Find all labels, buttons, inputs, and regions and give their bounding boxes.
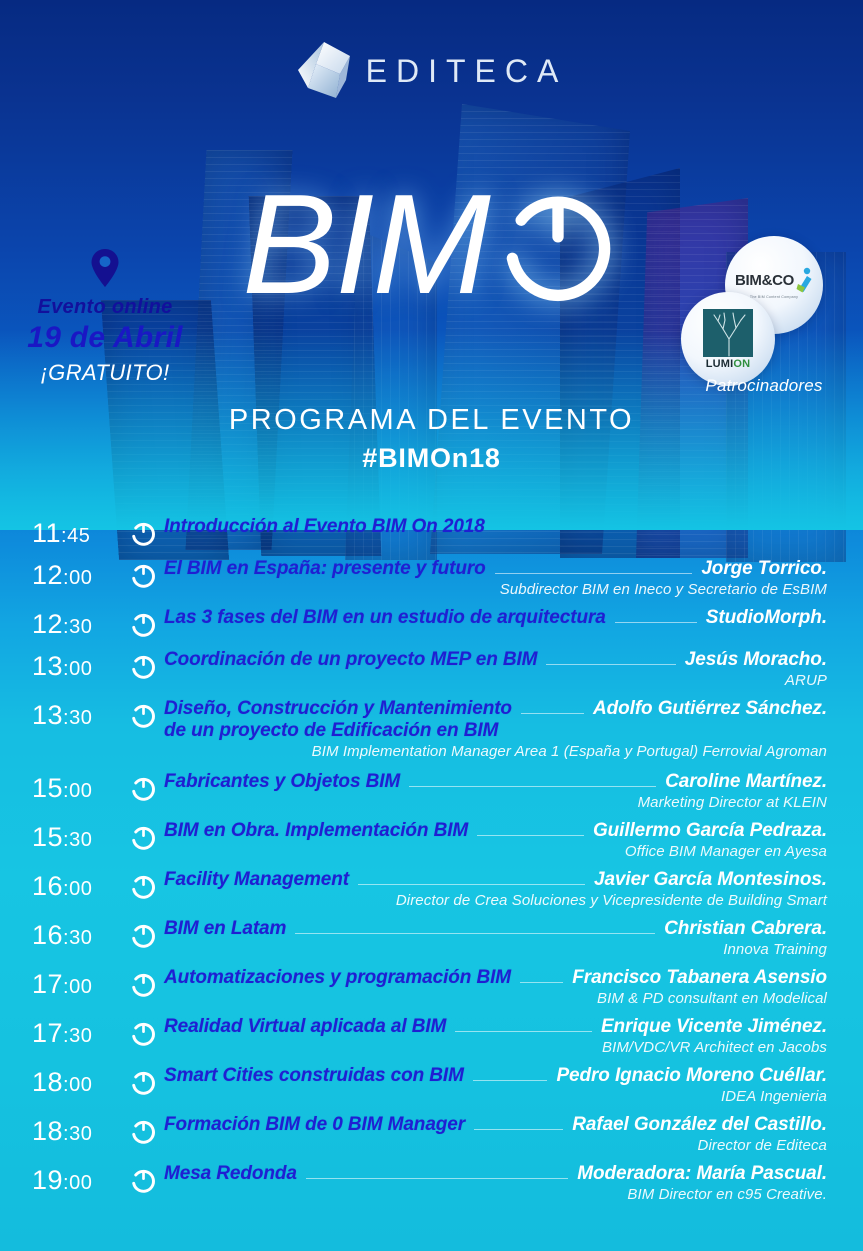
schedule-speaker-name: Christian Cabrera.: [664, 918, 827, 940]
schedule-speaker-role: IDEA Ingenieria: [164, 1088, 827, 1105]
schedule-time: 16:30: [32, 918, 130, 951]
schedule-row-main: El BIM en España: presente y futuroJorge…: [164, 558, 827, 580]
schedule-speaker-role: Office BIM Manager en Ayesa: [164, 843, 827, 860]
schedule-time-minutes: :30: [63, 707, 92, 729]
schedule-time-minutes: :00: [63, 567, 92, 589]
schedule-leader-line: [495, 573, 693, 574]
schedule-row-body: Smart Cities construidas con BIMPedro Ig…: [164, 1065, 827, 1105]
schedule-speaker-name: Adolfo Gutiérrez Sánchez.: [593, 698, 827, 720]
bimco-logo: [796, 267, 813, 293]
schedule-title-block: BIM en Latam: [164, 918, 286, 940]
schedule-time-hour: 12: [32, 609, 63, 639]
schedule-title-block: Automatizaciones y programación BIM: [164, 967, 511, 989]
power-button-icon: [130, 869, 164, 900]
power-button-icon: [130, 516, 164, 547]
schedule-row-body: Las 3 fases del BIM en un estudio de arq…: [164, 607, 827, 629]
schedule-leader-line: [295, 933, 655, 934]
schedule-row: 19:00Mesa RedondaModeradora: María Pascu…: [0, 1163, 863, 1203]
schedule-time-minutes: :30: [63, 1025, 92, 1047]
schedule-time-hour: 15: [32, 822, 63, 852]
schedule-speaker-role: BIM Implementation Manager Area 1 (Españ…: [164, 743, 827, 760]
schedule-time-hour: 16: [32, 920, 63, 950]
schedule-time-minutes: :00: [63, 1172, 92, 1194]
schedule-row-body: Automatizaciones y programación BIMFranc…: [164, 967, 827, 1007]
schedule-time: 13:00: [32, 649, 130, 682]
schedule-row-body: Coordinación de un proyecto MEP en BIMJe…: [164, 649, 827, 689]
schedule-row-body: Fabricantes y Objetos BIMCaroline Martín…: [164, 771, 827, 811]
schedule-time-minutes: :00: [63, 780, 92, 802]
schedule-time: 13:30: [32, 698, 130, 731]
schedule-talk-title[interactable]: Las 3 fases del BIM en un estudio de arq…: [164, 607, 606, 629]
schedule-title-block: Introducción al Evento BIM On 2018: [164, 516, 485, 538]
schedule-time-hour: 17: [32, 1018, 63, 1048]
event-date-label: 19 de Abril: [12, 321, 198, 355]
schedule-row-main: Smart Cities construidas con BIMPedro Ig…: [164, 1065, 827, 1087]
schedule-speaker-role: Innova Training: [164, 941, 827, 958]
power-button-icon: [130, 1065, 164, 1096]
schedule-talk-title[interactable]: Facility Management: [164, 869, 349, 891]
schedule-row-body: BIM en LatamChristian Cabrera.Innova Tra…: [164, 918, 827, 958]
schedule-title-block: Diseño, Construcción y Mantenimientode u…: [164, 698, 512, 742]
schedule-row: 15:30BIM en Obra. Implementación BIMGuil…: [0, 820, 863, 860]
power-button-icon: [130, 1163, 164, 1194]
schedule-time: 12:30: [32, 607, 130, 640]
schedule-time-minutes: :30: [63, 1123, 92, 1145]
schedule-row-main: Realidad Virtual aplicada al BIMEnrique …: [164, 1016, 827, 1038]
schedule-talk-title[interactable]: Smart Cities construidas con BIM: [164, 1065, 464, 1087]
sponsor-bimco-name: BIM&CO: [735, 272, 794, 289]
schedule-time: 15:00: [32, 771, 130, 804]
schedule-time-hour: 16: [32, 871, 63, 901]
event-date-block: Evento online 19 de Abril ¡GRATUITO!: [12, 248, 198, 386]
sponsor-lumion[interactable]: LUMION: [681, 292, 775, 386]
schedule-time-minutes: :45: [61, 525, 90, 547]
schedule-speaker-name: Caroline Martínez.: [665, 771, 827, 793]
schedule-speaker-role: BIM & PD consultant en Modelical: [164, 990, 827, 1007]
schedule-row-main: Facility ManagementJavier García Montesi…: [164, 869, 827, 891]
schedule-row-body: Diseño, Construcción y Mantenimientode u…: [164, 698, 827, 760]
schedule-speaker-role: Subdirector BIM en Ineco y Secretario de…: [164, 581, 827, 598]
schedule-title-block: Realidad Virtual aplicada al BIM: [164, 1016, 446, 1038]
schedule-talk-title[interactable]: BIM en Obra. Implementación BIM: [164, 820, 468, 842]
schedule-row-body: Facility ManagementJavier García Montesi…: [164, 869, 827, 909]
schedule-talk-title[interactable]: Mesa Redonda: [164, 1163, 297, 1185]
power-button-icon: [130, 558, 164, 589]
schedule-row: 17:30Realidad Virtual aplicada al BIMEnr…: [0, 1016, 863, 1056]
schedule-leader-line: [520, 982, 563, 983]
schedule-leader-line: [409, 786, 656, 787]
schedule-speaker-name: StudioMorph.: [706, 607, 827, 629]
schedule-talk-title[interactable]: Automatizaciones y programación BIM: [164, 967, 511, 989]
schedule-talk-title[interactable]: El BIM en España: presente y futuro: [164, 558, 486, 580]
schedule-time-minutes: :00: [63, 1074, 92, 1096]
schedule-speaker-name: Jesús Moracho.: [685, 649, 827, 671]
schedule-title-block: Mesa Redonda: [164, 1163, 297, 1185]
schedule-speaker-name: Guillermo García Pedraza.: [593, 820, 827, 842]
schedule-time-minutes: :00: [63, 878, 92, 900]
schedule-time-hour: 19: [32, 1165, 63, 1195]
schedule-title-block: Fabricantes y Objetos BIM: [164, 771, 400, 793]
schedule-time-minutes: :30: [63, 616, 92, 638]
schedule-time: 16:00: [32, 869, 130, 902]
schedule-time: 12:00: [32, 558, 130, 591]
schedule-row-body: Mesa RedondaModeradora: María Pascual.BI…: [164, 1163, 827, 1203]
schedule-talk-title[interactable]: Coordinación de un proyecto MEP en BIM: [164, 649, 537, 671]
schedule-title-block: Facility Management: [164, 869, 349, 891]
power-button-icon: [130, 1114, 164, 1145]
schedule-speaker-role: Director de Editeca: [164, 1137, 827, 1154]
schedule-row: 13:00Coordinación de un proyecto MEP en …: [0, 649, 863, 689]
schedule-time: 15:30: [32, 820, 130, 853]
schedule-time: 19:00: [32, 1163, 130, 1196]
schedule-time-hour: 18: [32, 1067, 63, 1097]
schedule-time: 18:30: [32, 1114, 130, 1147]
schedule-row-body: BIM en Obra. Implementación BIMGuillermo…: [164, 820, 827, 860]
schedule-title-block: Smart Cities construidas con BIM: [164, 1065, 464, 1087]
schedule-speaker-name: Rafael González del Castillo.: [572, 1114, 827, 1136]
schedule-speaker-role: BIM Director en c95 Creative.: [164, 1186, 827, 1203]
schedule-leader-line: [615, 622, 697, 623]
schedule-time-minutes: :30: [63, 829, 92, 851]
sponsors-label: Patrocinadores: [669, 376, 859, 396]
schedule-leader-line: [474, 1129, 563, 1130]
schedule-time-minutes: :00: [63, 658, 92, 680]
schedule-title-block: Coordinación de un proyecto MEP en BIM: [164, 649, 537, 671]
schedule-row: 13:30Diseño, Construcción y Mantenimient…: [0, 698, 863, 760]
schedule-speaker-role: Director de Crea Soluciones y Vicepresid…: [164, 892, 827, 909]
location-pin-icon: [90, 248, 120, 288]
schedule-time-hour: 13: [32, 700, 63, 730]
schedule-title-block: Las 3 fases del BIM en un estudio de arq…: [164, 607, 606, 629]
event-mode-label: Evento online: [12, 296, 198, 319]
schedule-leader-line: [521, 713, 584, 714]
schedule-row-main: Fabricantes y Objetos BIMCaroline Martín…: [164, 771, 827, 793]
schedule-row-main: BIM en Obra. Implementación BIMGuillermo…: [164, 820, 827, 842]
event-poster: EDITECA BIM Evento online 19 de Abril ¡G…: [0, 0, 863, 1251]
schedule-speaker-name: Javier García Montesinos.: [594, 869, 827, 891]
schedule-title-block: El BIM en España: presente y futuro: [164, 558, 486, 580]
schedule-row-main: Introducción al Evento BIM On 2018: [164, 516, 827, 538]
schedule-row-main: Diseño, Construcción y Mantenimientode u…: [164, 698, 827, 742]
schedule-row-main: Mesa RedondaModeradora: María Pascual.: [164, 1163, 827, 1185]
schedule-speaker-role: ARUP: [164, 672, 827, 689]
schedule-time: 17:00: [32, 967, 130, 1000]
schedule-talk-title[interactable]: Fabricantes y Objetos BIM: [164, 771, 400, 793]
schedule-title-block: BIM en Obra. Implementación BIM: [164, 820, 468, 842]
power-button-icon: [130, 771, 164, 802]
schedule-time: 18:00: [32, 1065, 130, 1098]
power-button-icon: [130, 607, 164, 638]
lumion-logo: [703, 309, 753, 357]
schedule-speaker-name: Francisco Tabanera Asensio: [572, 967, 827, 989]
schedule-row: 12:00El BIM en España: presente y futuro…: [0, 558, 863, 598]
schedule-row: 18:00Smart Cities construidas con BIMPed…: [0, 1065, 863, 1105]
power-button-icon: [130, 698, 164, 729]
schedule-row-main: Automatizaciones y programación BIMFranc…: [164, 967, 827, 989]
program-title: PROGRAMA DEL EVENTO: [0, 404, 863, 437]
schedule-speaker-name: Pedro Ignacio Moreno Cuéllar.: [556, 1065, 827, 1087]
schedule-talk-title[interactable]: Introducción al Evento BIM On 2018: [164, 516, 485, 538]
power-button-icon: [130, 649, 164, 680]
brand-header: EDITECA: [0, 40, 863, 102]
schedule-row: 17:00Automatizaciones y programación BIM…: [0, 967, 863, 1007]
program-heading: PROGRAMA DEL EVENTO #BIMOn18: [0, 404, 863, 474]
schedule-speaker-name: Enrique Vicente Jiménez.: [601, 1016, 827, 1038]
schedule-leader-line: [494, 531, 818, 532]
schedule-talk-title[interactable]: Diseño, Construcción y Mantenimiento: [164, 698, 512, 720]
schedule-time-minutes: :30: [63, 927, 92, 949]
power-button-icon: [130, 820, 164, 851]
schedule-time: 17:30: [32, 1016, 130, 1049]
schedule-row: 18:30Formación BIM de 0 BIM ManagerRafae…: [0, 1114, 863, 1154]
power-button-icon: [495, 182, 621, 308]
power-button-icon: [130, 967, 164, 998]
brand-name: EDITECA: [366, 53, 568, 90]
event-free-label: ¡GRATUITO!: [12, 360, 198, 386]
schedule-leader-line: [473, 1080, 548, 1081]
power-button-icon: [130, 918, 164, 949]
schedule-leader-line: [546, 664, 675, 665]
schedule-row-body: Formación BIM de 0 BIM ManagerRafael Gon…: [164, 1114, 827, 1154]
schedule-row-main: Las 3 fases del BIM en un estudio de arq…: [164, 607, 827, 629]
schedule-talk-title-line2[interactable]: de un proyecto de Edificación en BIM: [164, 720, 512, 742]
schedule-talk-title[interactable]: BIM en Latam: [164, 918, 286, 940]
schedule-leader-line: [455, 1031, 592, 1032]
schedule-leader-line: [306, 1178, 568, 1179]
schedule-leader-line: [358, 884, 585, 885]
schedule-talk-title[interactable]: Formación BIM de 0 BIM Manager: [164, 1114, 465, 1136]
schedule-time-hour: 11: [32, 518, 61, 548]
schedule-speaker-role: BIM/VDC/VR Architect en Jacobs: [164, 1039, 827, 1056]
schedule-leader-line: [477, 835, 584, 836]
schedule-title-block: Formación BIM de 0 BIM Manager: [164, 1114, 465, 1136]
schedule-row-main: BIM en LatamChristian Cabrera.: [164, 918, 827, 940]
schedule-row-main: Formación BIM de 0 BIM ManagerRafael Gon…: [164, 1114, 827, 1136]
schedule-row: 15:00Fabricantes y Objetos BIMCaroline M…: [0, 771, 863, 811]
schedule-time-hour: 17: [32, 969, 63, 999]
schedule-row: 11:45Introducción al Evento BIM On 2018: [0, 516, 863, 549]
program-hashtag: #BIMOn18: [0, 443, 863, 474]
schedule-row-main: Coordinación de un proyecto MEP en BIMJe…: [164, 649, 827, 671]
schedule-row: 12:30Las 3 fases del BIM en un estudio d…: [0, 607, 863, 640]
schedule-row-body: El BIM en España: presente y futuroJorge…: [164, 558, 827, 598]
hero-word-bim: BIM: [242, 178, 488, 313]
schedule-row: 16:30BIM en LatamChristian Cabrera.Innov…: [0, 918, 863, 958]
editeca-cube-logo: [296, 40, 352, 102]
schedule-time-hour: 18: [32, 1116, 63, 1146]
schedule-time: 11:45: [32, 516, 130, 549]
schedule-row-body: Realidad Virtual aplicada al BIMEnrique …: [164, 1016, 827, 1056]
schedule-speaker-role: Marketing Director at KLEIN: [164, 794, 827, 811]
power-button-icon: [130, 1016, 164, 1047]
schedule-speaker-name: Moderadora: María Pascual.: [577, 1163, 827, 1185]
schedule-talk-title[interactable]: Realidad Virtual aplicada al BIM: [164, 1016, 446, 1038]
schedule-row: 16:00Facility ManagementJavier García Mo…: [0, 869, 863, 909]
schedule-time-minutes: :00: [63, 976, 92, 998]
sponsor-lumion-name: LUMION: [703, 358, 753, 370]
schedule-list: 11:45Introducción al Evento BIM On 20181…: [0, 516, 863, 1212]
schedule-time-hour: 15: [32, 773, 63, 803]
schedule-time-hour: 13: [32, 651, 63, 681]
schedule-speaker-name: Jorge Torrico.: [701, 558, 827, 580]
schedule-time-hour: 12: [32, 560, 63, 590]
schedule-row-body: Introducción al Evento BIM On 2018: [164, 516, 827, 538]
